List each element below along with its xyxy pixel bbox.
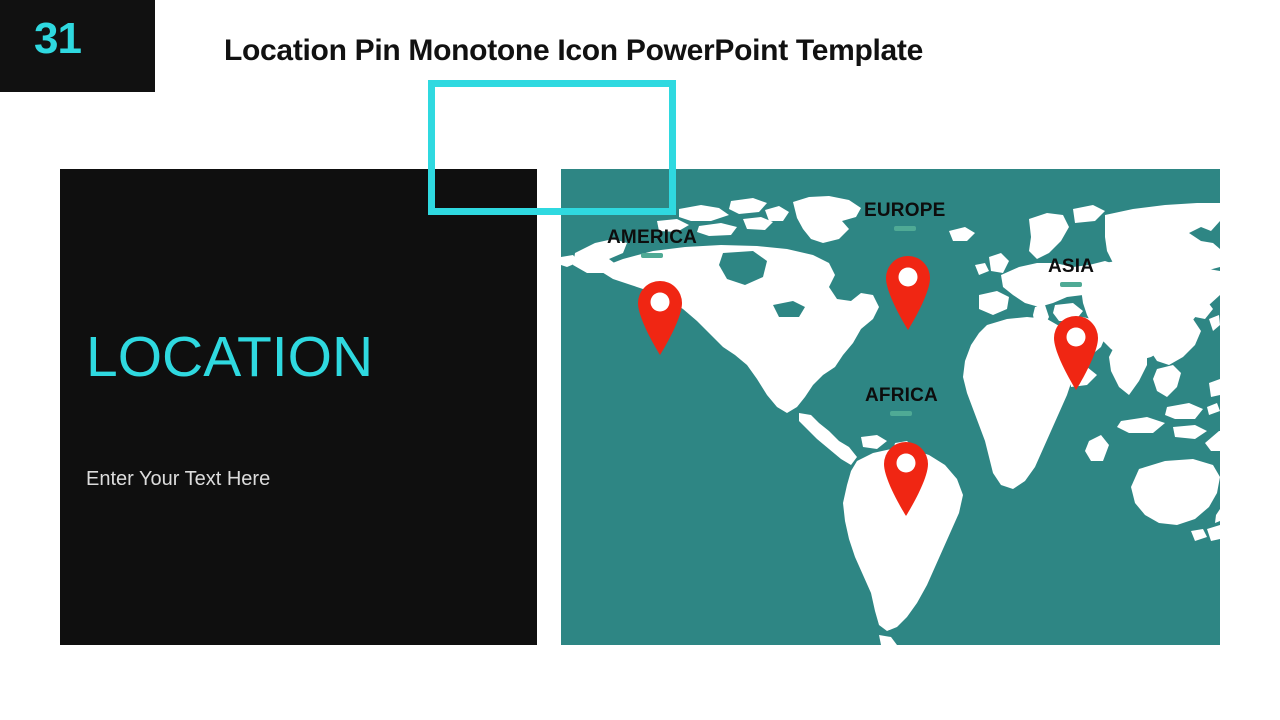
region-label-america-text: AMERICA xyxy=(607,228,697,247)
region-label-africa[interactable]: AFRICA xyxy=(865,386,938,416)
slide-number-badge: 31 xyxy=(0,0,155,92)
decorative-cyan-rectangle xyxy=(428,80,676,215)
region-label-asia[interactable]: ASIA xyxy=(1048,257,1094,287)
slide-number: 31 xyxy=(34,17,81,61)
region-label-europe[interactable]: EUROPE xyxy=(864,201,945,231)
region-label-africa-dash xyxy=(890,411,912,416)
region-label-america[interactable]: AMERICA xyxy=(607,228,697,258)
headline-location: LOCATION xyxy=(86,329,373,386)
map-pin-america[interactable] xyxy=(633,276,687,356)
map-pin-asia[interactable] xyxy=(1049,311,1103,391)
region-label-asia-dash xyxy=(1060,282,1082,287)
left-content-panel: LOCATION Enter Your Text Here xyxy=(60,169,537,645)
region-label-america-dash xyxy=(641,253,663,258)
region-label-africa-text: AFRICA xyxy=(865,386,938,405)
region-label-europe-text: EUROPE xyxy=(864,201,945,220)
body-placeholder-text[interactable]: Enter Your Text Here xyxy=(86,469,270,489)
region-label-europe-dash xyxy=(894,226,916,231)
page-title: Location Pin Monotone Icon PowerPoint Te… xyxy=(224,34,923,68)
map-pin-africa[interactable] xyxy=(879,437,933,517)
region-label-asia-text: ASIA xyxy=(1048,257,1094,276)
map-pin-europe[interactable] xyxy=(881,251,935,331)
